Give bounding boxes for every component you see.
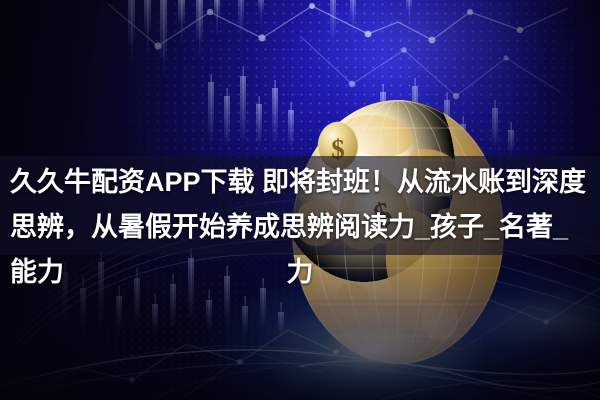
headline-line-1: 久久牛配资APP下载 即将封班！从流水账到深度 [10, 167, 586, 197]
headline-line-3: 力 [0, 250, 600, 295]
banner-image: $ $ 久久牛配资APP下载 即将封班！从流水账到深度思辨，从暑假开始养成思辨阅… [0, 0, 600, 400]
